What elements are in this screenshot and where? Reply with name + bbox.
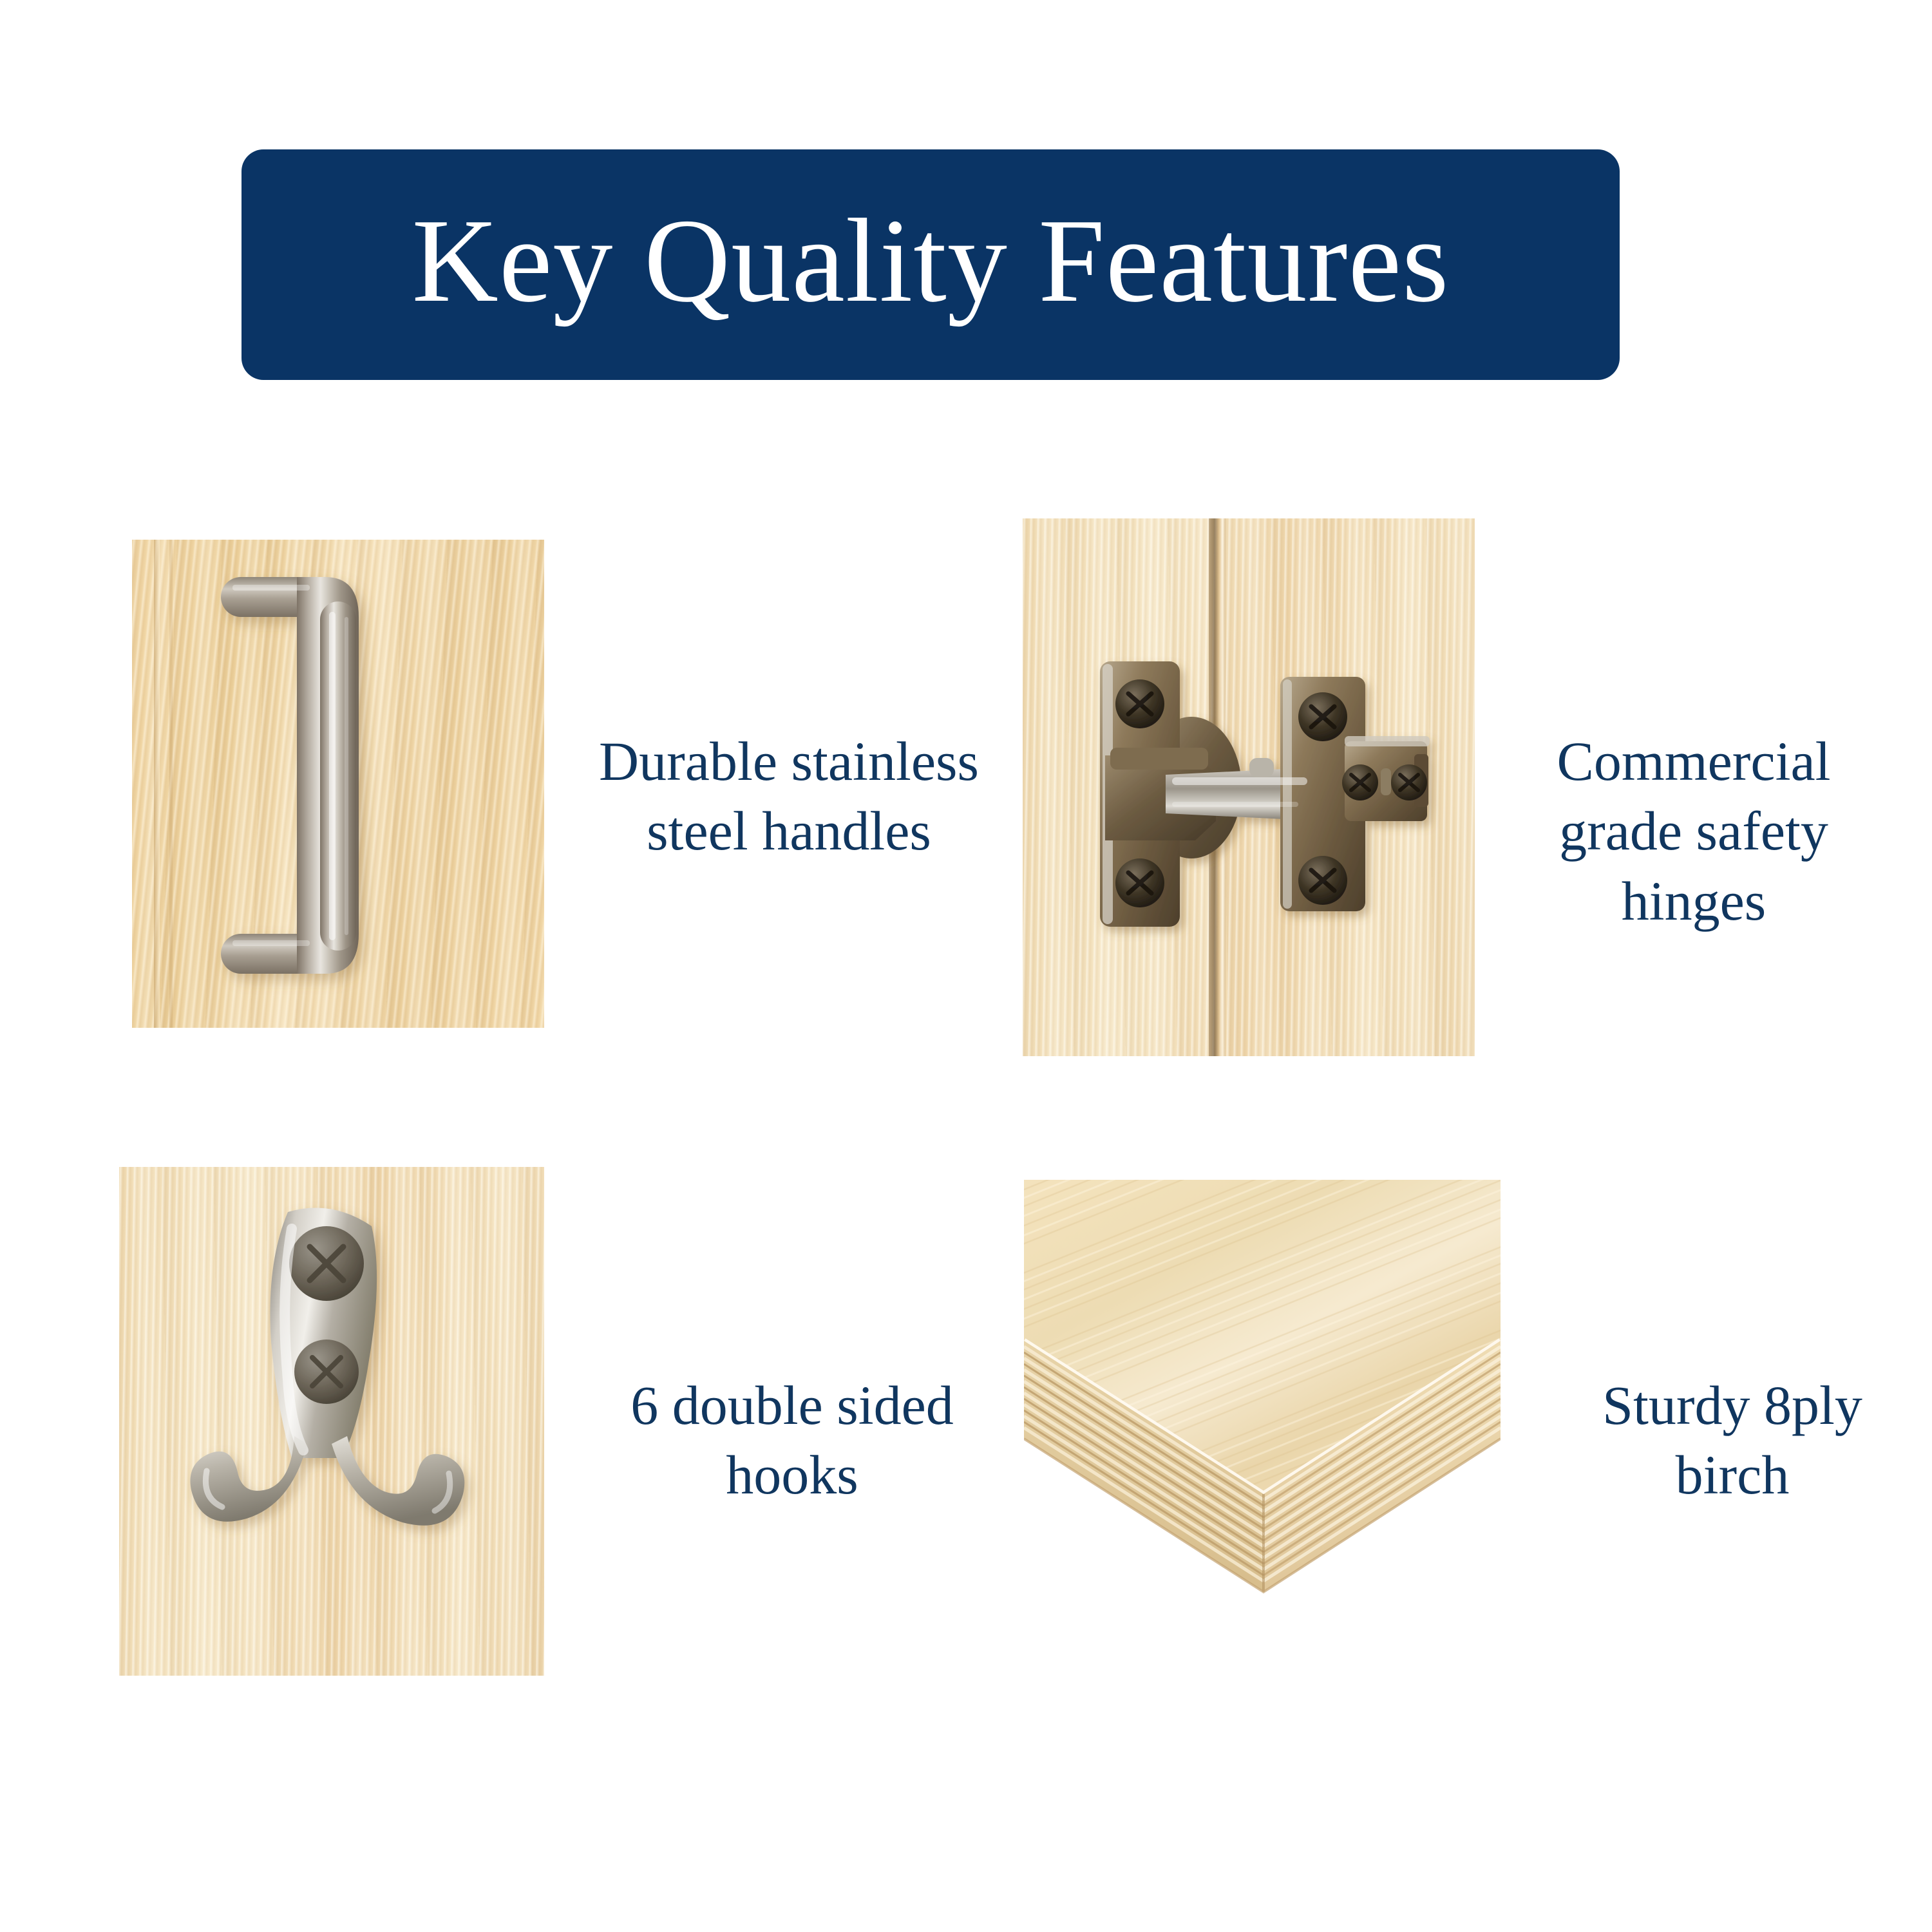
plywood-corner-illustration [1024, 1180, 1501, 1638]
feature-caption-hinges: Commercial grade safety hinges [1494, 726, 1893, 936]
double-sided-hook-photo [119, 1167, 544, 1676]
page-title: Key Quality Features [412, 201, 1450, 321]
feature-caption-handles: Durable stainless steel handles [554, 726, 1024, 866]
stainless-steel-handle-photo [132, 540, 544, 1028]
page-title-banner: Key Quality Features [241, 149, 1620, 380]
birch-plywood-corner-photo [1024, 1180, 1501, 1638]
hinge-illustration [1023, 518, 1475, 1056]
feature-caption-hooks: 6 double sided hooks [567, 1370, 1018, 1510]
handle-illustration [132, 540, 544, 1028]
safety-hinge-photo [1023, 518, 1475, 1056]
feature-caption-plywood: Sturdy 8ply birch [1552, 1370, 1913, 1510]
hook-illustration [119, 1167, 544, 1676]
